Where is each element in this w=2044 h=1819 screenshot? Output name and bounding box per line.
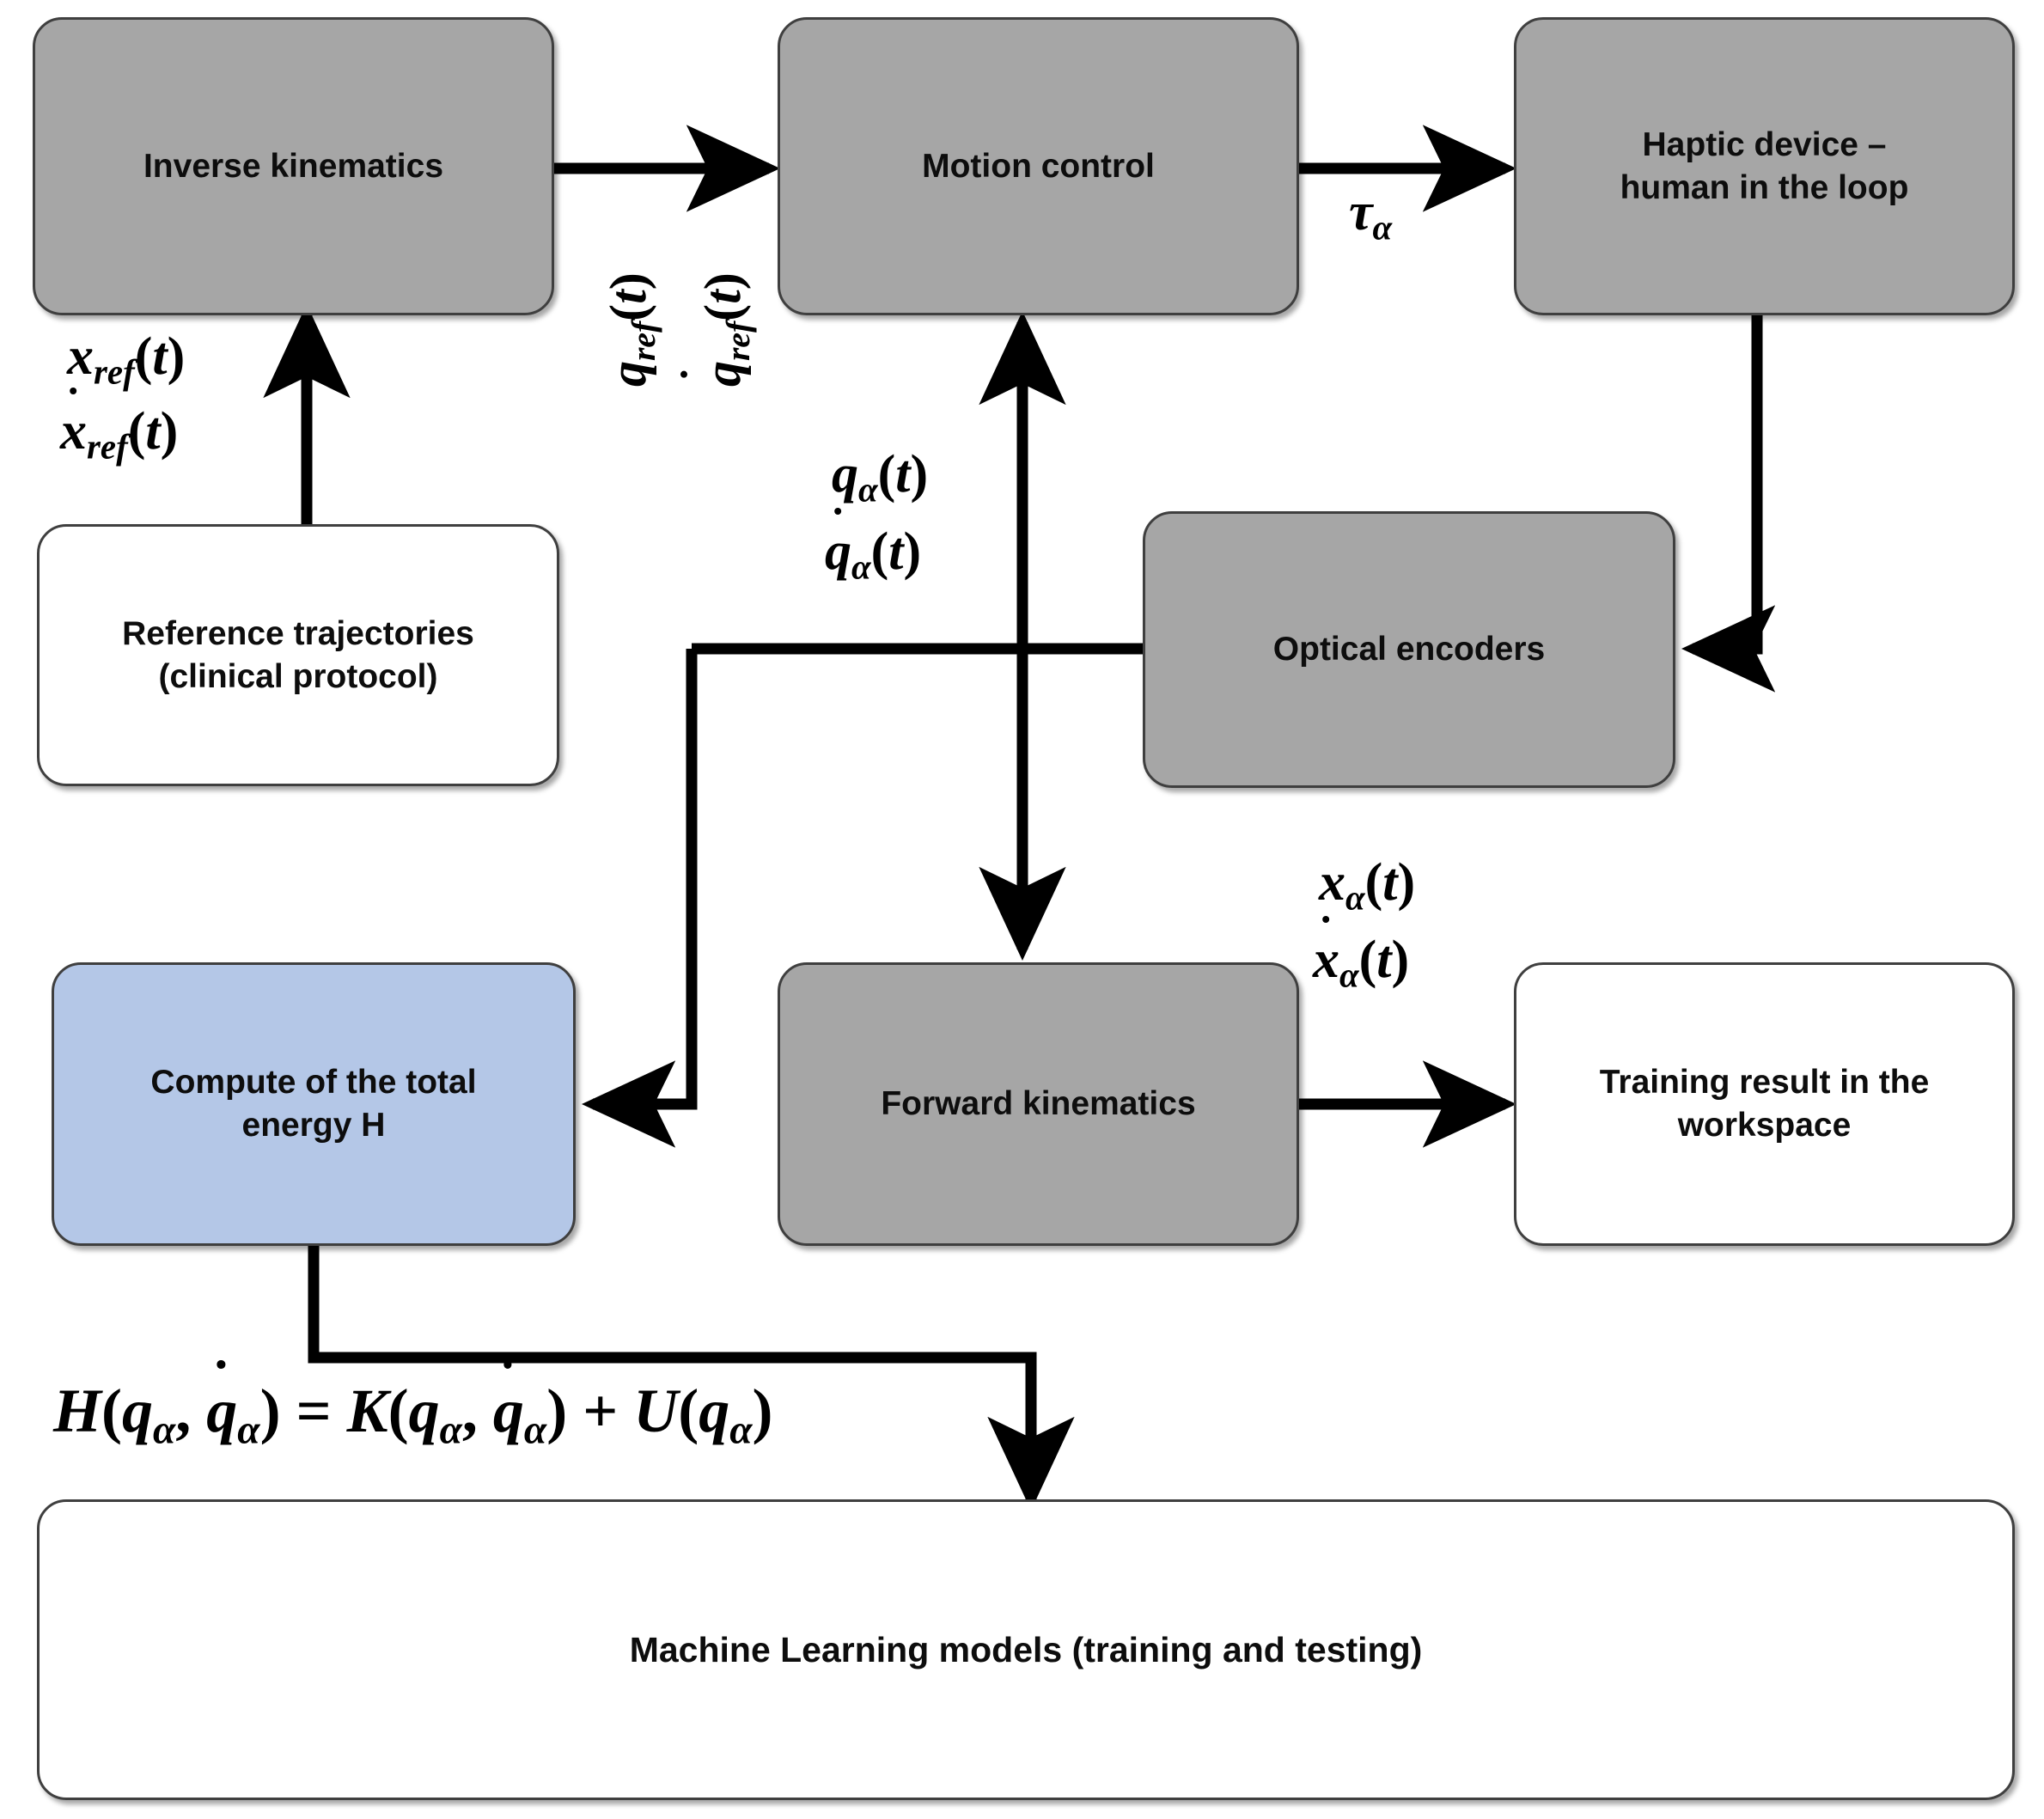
node-label: Training result in the workspace <box>1600 1061 1930 1147</box>
node-label: Inverse kinematics <box>143 145 443 188</box>
edge-label-q-ref: qref(t) <box>601 272 662 387</box>
edge-label-x-ref-dot: xref(t) <box>60 404 178 466</box>
node-label: Forward kinematics <box>881 1083 1195 1126</box>
node-label: Machine Learning models (training and te… <box>630 1627 1423 1672</box>
node-label: Optical encoders <box>1273 628 1545 671</box>
edge-bus-to-energy <box>593 649 692 1104</box>
edge-label-x-alpha: xα(t) <box>1319 855 1415 917</box>
edge-label-q-ref-dot: qref(t) <box>696 272 756 387</box>
node-inverse-kinematics[interactable]: Inverse kinematics <box>33 17 554 315</box>
edge-label-x-ref: xref(t) <box>67 329 185 391</box>
flowchart-canvas: Inverse kinematics Motion control Haptic… <box>0 0 2044 1819</box>
edge-label-q-alpha-dot: qα(t) <box>825 524 921 586</box>
node-forward-kinematics[interactable]: Forward kinematics <box>778 962 1299 1246</box>
edge-haptic-to-encoders <box>1693 315 1757 649</box>
node-ml-models[interactable]: Machine Learning models (training and te… <box>37 1499 2015 1800</box>
node-label: Motion control <box>922 145 1155 188</box>
node-training-result[interactable]: Training result in the workspace <box>1514 962 2015 1246</box>
edge-label-q-alpha: qα(t) <box>832 447 928 509</box>
node-optical-encoders[interactable]: Optical encoders <box>1143 511 1675 788</box>
node-compute-energy[interactable]: Compute of the total energy H <box>52 962 576 1246</box>
node-reference-trajectories[interactable]: Reference trajectories (clinical protoco… <box>37 524 559 786</box>
node-label: Reference trajectories (clinical protoco… <box>122 613 474 699</box>
edge-label-tau-alpha: τα <box>1349 185 1392 247</box>
node-motion-control[interactable]: Motion control <box>778 17 1299 315</box>
edge-label-x-alpha-dot: xα(t) <box>1313 932 1409 994</box>
edge-energy-to-ml <box>314 1246 1031 1499</box>
node-label: Compute of the total energy H <box>150 1061 476 1147</box>
energy-equation: H(qα, qα) = K(qα, qα) + U(qα) <box>53 1379 773 1452</box>
node-label: Haptic device – human in the loop <box>1620 124 1909 210</box>
node-haptic-device[interactable]: Haptic device – human in the loop <box>1514 17 2015 315</box>
